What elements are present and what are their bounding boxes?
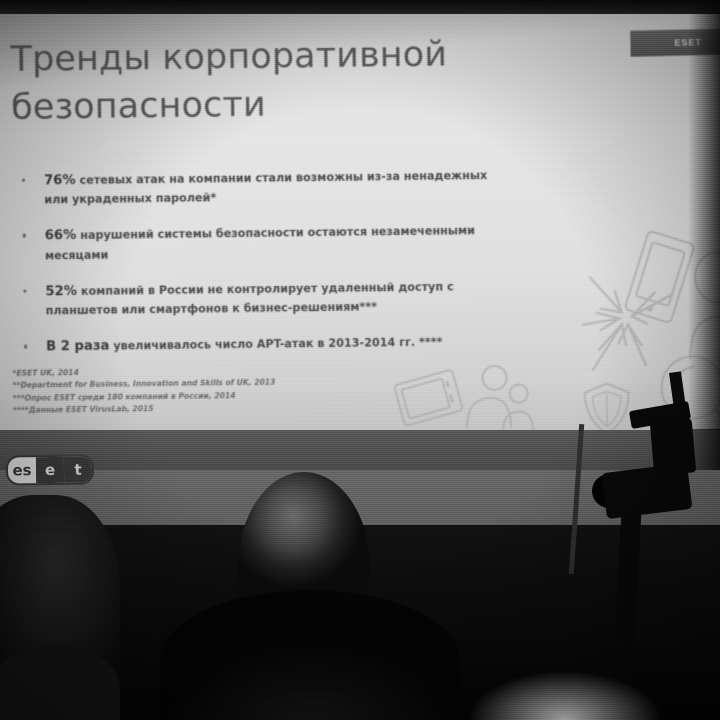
bullet-item: 76% сетевых атак на компании стали возмо… xyxy=(10,166,510,209)
bullet-lead: 52% xyxy=(45,284,77,299)
laptop-glow-2 xyxy=(470,672,660,720)
laptop-icon xyxy=(390,368,467,429)
bullet-item: 52% компаний в России не контролирует уд… xyxy=(11,276,511,319)
bullet-list: 76% сетевых атак на компании стали возмо… xyxy=(10,166,512,375)
bullet-text: увеличивалось число APT-атак в 2013-2014… xyxy=(109,336,442,353)
audience-shoulders-silhouette xyxy=(160,590,460,720)
bullet-dot xyxy=(23,234,26,237)
bullet-item: В 2 раза увеличивалось число APT-атак в … xyxy=(12,332,512,357)
bullet-text: компаний в России не контролирует удален… xyxy=(46,280,454,317)
wall-upper xyxy=(0,430,720,470)
person-group-icon xyxy=(460,363,537,436)
photograph: Тренды корпоративной безопасности 76% се… xyxy=(0,0,720,720)
right-edge-shadow xyxy=(688,0,720,470)
eset-logo-seg-3: t xyxy=(64,457,92,483)
bullet-lead: В 2 раза xyxy=(46,339,109,355)
bullet-dot xyxy=(23,289,26,292)
bullet-text: сетевых атак на компании стали возможны … xyxy=(44,169,487,207)
eset-logo-seg-1: es xyxy=(8,457,36,483)
screen-top-edge xyxy=(0,0,720,14)
footnotes: *ESET UK, 2014 **Department for Business… xyxy=(12,364,343,417)
slide-title: Тренды корпоративной безопасности xyxy=(10,29,571,132)
projection-screen: Тренды корпоративной безопасности 76% се… xyxy=(0,3,720,438)
bullet-text: нарушений системы безопасности остаются … xyxy=(45,225,475,262)
bullet-lead: 66% xyxy=(45,228,77,243)
bullet-item: 66% нарушений системы безопасности остаю… xyxy=(11,221,511,264)
eset-logo: es e t xyxy=(6,455,94,486)
bullet-dot xyxy=(24,345,27,348)
burst-arrows-icon xyxy=(569,262,682,375)
bullet-lead: 76% xyxy=(44,173,76,188)
eset-logo-seg-2: e xyxy=(36,457,64,483)
bullet-dot xyxy=(22,179,25,182)
